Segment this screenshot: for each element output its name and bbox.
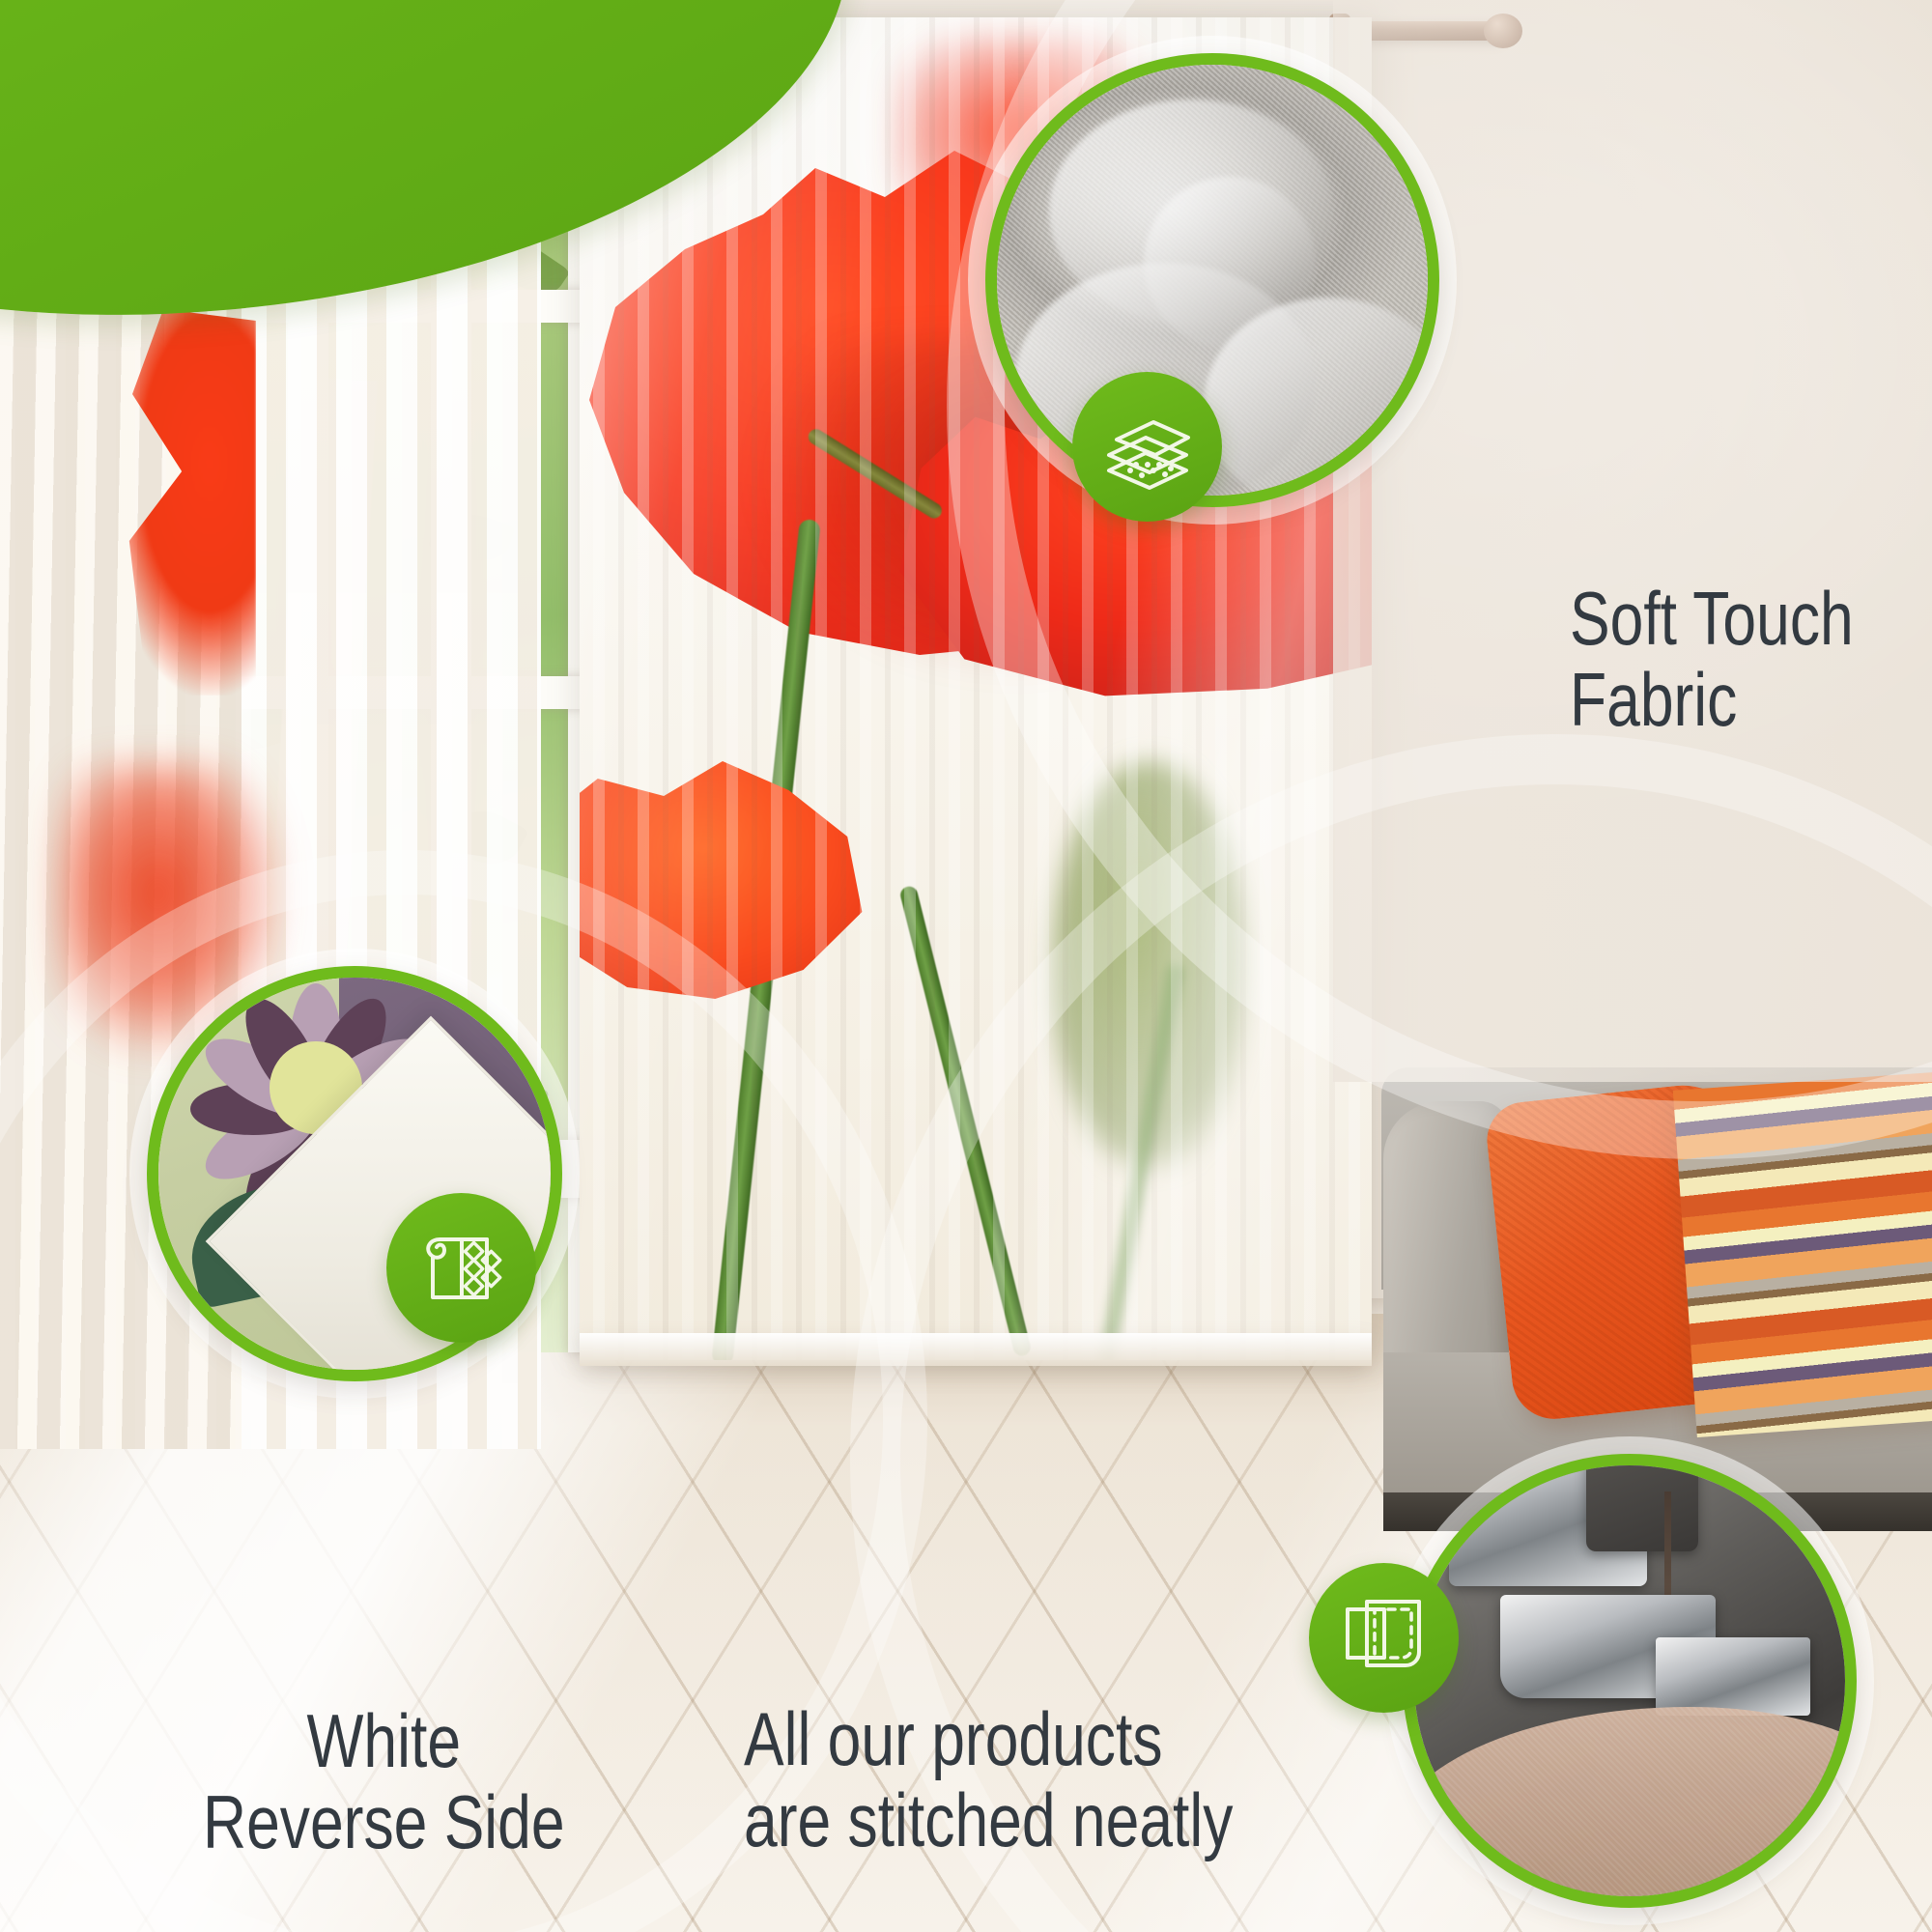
stitched-panels-icon [1309,1563,1459,1713]
sewing-machine [1414,1465,1845,1896]
white-reverse-caption-line1: White [203,1700,565,1781]
layered-fabric-icon [1072,372,1222,522]
product-feature-poster: HIGH QUALITY [0,0,1932,1932]
neat-stitching-photo [1414,1465,1845,1896]
fabric-roll-icon [386,1193,536,1343]
feature-neat-stitching [1403,1454,1857,1908]
white-reverse-caption: White Reverse Side [203,1700,565,1862]
soft-touch-caption: Soft Touch Fabric [1570,578,1854,740]
neat-stitching-photo-circle [1403,1454,1857,1908]
neat-stitching-caption-line1: All our products [744,1698,1233,1779]
curtain-hem [580,1333,1372,1366]
soft-touch-caption-line1: Soft Touch [1570,578,1854,659]
striped-throw [1673,1070,1932,1437]
stitched-sheer-fabric [1403,1707,1857,1908]
white-reverse-caption-line2: Reverse Side [203,1781,565,1862]
neat-stitching-caption-line2: are stitched neatly [744,1779,1233,1861]
soft-touch-caption-line2: Fabric [1570,659,1854,740]
neat-stitching-caption: All our products are stitched neatly [744,1698,1233,1861]
